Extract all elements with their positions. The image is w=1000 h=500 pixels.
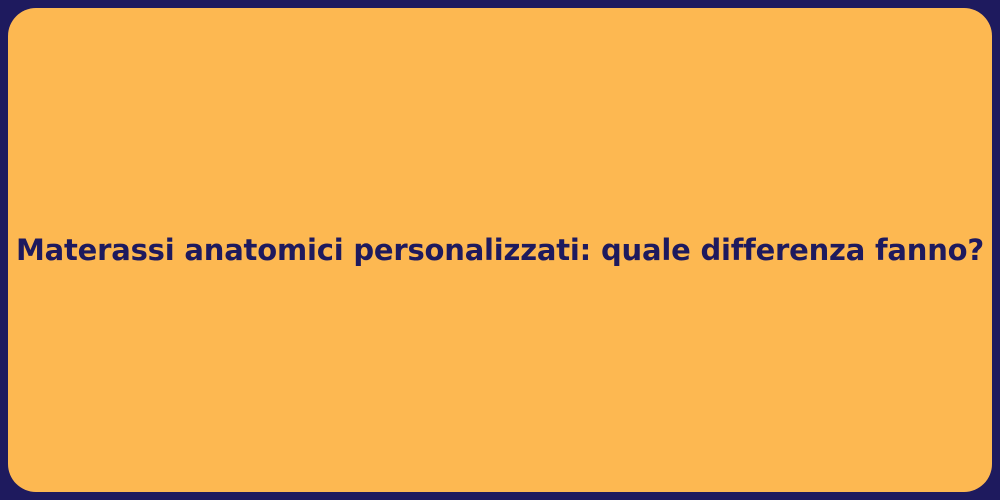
banner-panel: Materassi anatomici personalizzati: qual… xyxy=(8,8,992,492)
banner-frame: Materassi anatomici personalizzati: qual… xyxy=(0,0,1000,500)
banner-title: Materassi anatomici personalizzati: qual… xyxy=(16,232,984,268)
